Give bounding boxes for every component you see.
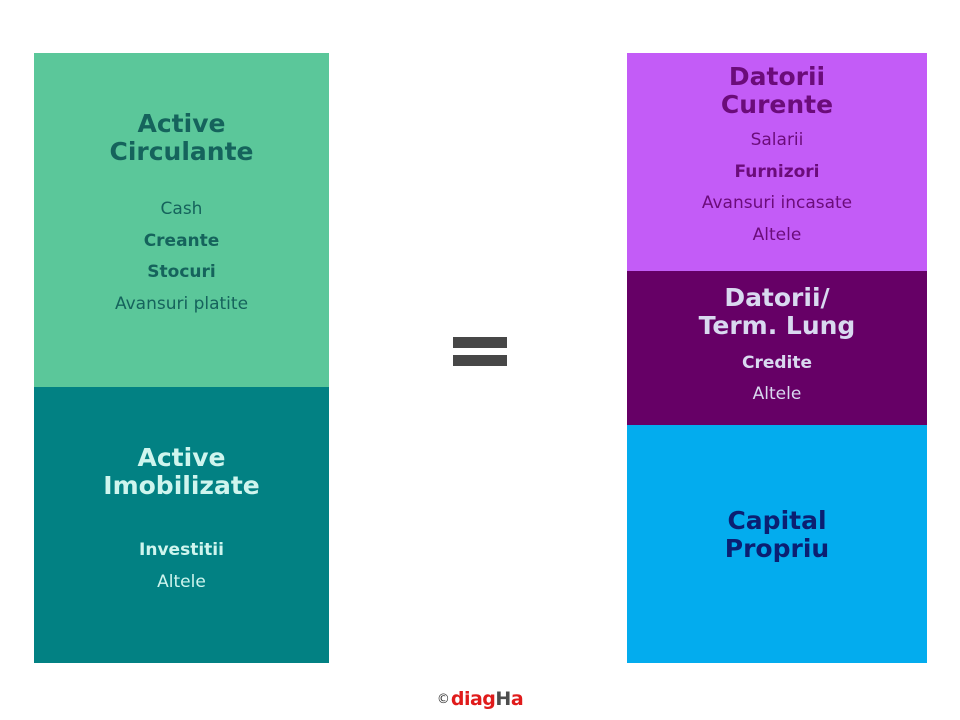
list-item: Furnizori [735,163,820,183]
block-items-datorii-termen-lung: Credite Altele [627,354,927,415]
block-datorii-termen-lung: Datorii/ Term. Lung Credite Altele [627,271,927,425]
list-item: Avansuri platite [115,295,248,315]
block-title-active-circulante: Active Circulante [109,110,253,166]
list-item: Altele [157,573,206,593]
footer-logo: © diagHa [0,690,960,709]
equals-bar-top [453,337,507,348]
block-active-circulante: Active Circulante Cash Creante Stocuri A… [34,53,329,387]
copyright-icon: © [437,693,450,706]
brand-wordmark: diagHa [451,690,523,709]
block-capital-propriu: Capital Propriu [627,425,927,663]
block-datorii-curente: Datorii Curente Salarii Furnizori Avansu… [627,53,927,271]
block-items-datorii-curente: Salarii Furnizori Avansuri incasate Alte… [627,131,927,258]
block-items-active-imobilizate: Investitii Altele [34,541,329,604]
list-item: Credite [742,354,812,374]
block-title-capital-propriu: Capital Propriu [725,507,829,563]
block-title-datorii-curente: Datorii Curente [721,63,833,119]
equals-bar-bottom [453,355,507,366]
block-active-imobilizate: Active Imobilizate Investitii Altele [34,387,329,663]
list-item: Altele [753,385,802,405]
block-title-datorii-termen-lung: Datorii/ Term. Lung [699,284,856,340]
equals-sign-icon [453,337,507,366]
block-items-active-circulante: Cash Creante Stocuri Avansuri platite [34,200,329,327]
list-item: Stocuri [147,263,215,283]
wordmark-part1: diag [451,688,496,710]
wordmark-accent: H [495,688,510,710]
list-item: Salarii [751,131,804,151]
list-item: Creante [144,232,220,252]
list-item: Cash [161,200,203,220]
list-item: Avansuri incasate [702,194,852,214]
list-item: Investitii [139,541,224,561]
wordmark-part2: a [511,688,523,710]
block-title-active-imobilizate: Active Imobilizate [103,444,259,500]
list-item: Altele [753,226,802,246]
